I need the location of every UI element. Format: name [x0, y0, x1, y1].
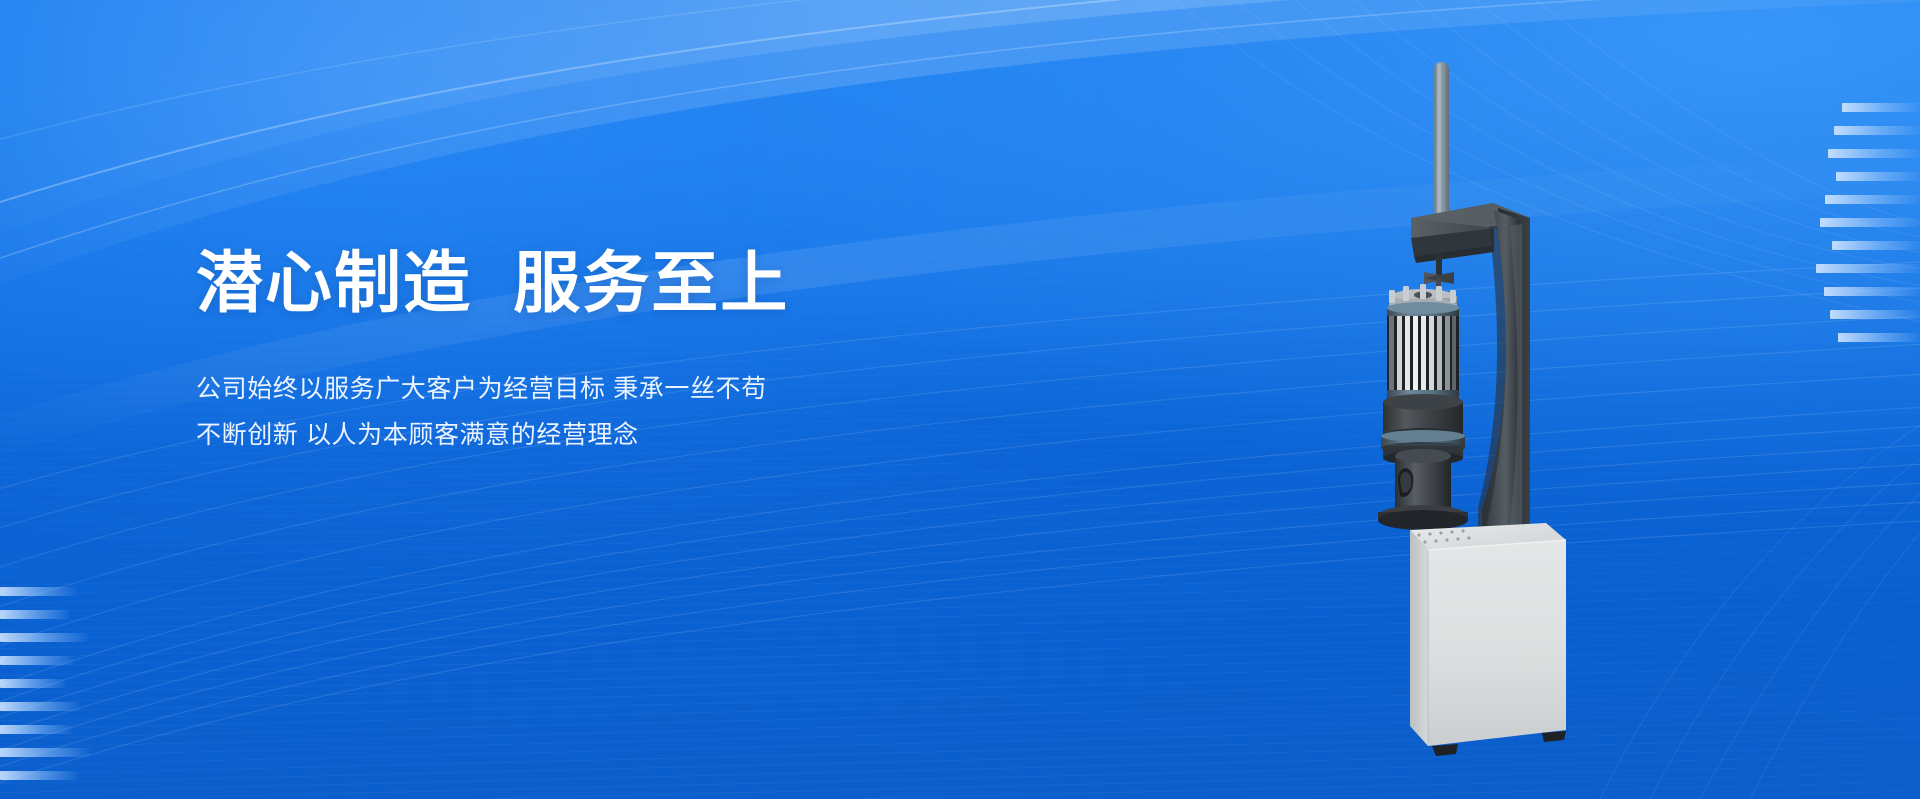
accent-bar — [0, 656, 74, 665]
accent-bar — [1842, 103, 1920, 112]
accent-bar — [0, 771, 78, 780]
neck-housing-part — [1395, 449, 1451, 514]
base-plate-part — [1378, 505, 1468, 530]
page-title: 潜心制造 服务至上 — [196, 246, 896, 321]
machine-svg — [1370, 40, 1630, 770]
accent-bar — [1828, 149, 1920, 158]
hero-subtitle-line-1: 公司始终以服务广大客户为经营目标 秉承一丝不苟 — [196, 367, 896, 413]
hero-copy-block: 潜心制造 服务至上 公司始终以服务广大客户为经营目标 秉承一丝不苟 不断创新 以… — [196, 246, 896, 458]
c-frame-column-part — [1476, 208, 1530, 538]
cooling-ribs — [1389, 316, 1456, 390]
accent-bar — [1832, 241, 1920, 250]
vertical-rod-part — [1434, 62, 1449, 217]
product-machine-illustration — [1370, 40, 1630, 770]
hero-subtitle-line-2: 不断创新 以人为本顾客满意的经营理念 — [196, 413, 896, 459]
accent-bar — [0, 633, 88, 642]
accent-bar — [0, 725, 72, 734]
accent-bar — [1834, 126, 1920, 135]
accent-bar — [0, 587, 76, 596]
accent-bar — [1838, 333, 1920, 342]
accent-bar — [1820, 218, 1920, 227]
accent-bar — [1824, 287, 1920, 296]
hero-subtitle: 公司始终以服务广大客户为经营目标 秉承一丝不苟 不断创新 以人为本顾客满意的经营… — [196, 321, 896, 458]
left-accent-bars — [0, 587, 120, 794]
accent-bar — [0, 748, 90, 757]
right-accent-bars — [1800, 103, 1920, 356]
accent-bar — [1816, 264, 1920, 273]
accent-bar — [1830, 310, 1920, 319]
accent-bar — [0, 679, 66, 688]
hero-banner: 潜心制造 服务至上 公司始终以服务广大客户为经营目标 秉承一丝不苟 不断创新 以… — [0, 0, 1920, 799]
cabinet-pedestal-part — [1410, 523, 1566, 746]
ribbed-cylinder-head-part — [1387, 284, 1459, 409]
accent-bar — [0, 702, 80, 711]
accent-bar — [0, 610, 70, 619]
accent-bar — [1836, 172, 1920, 181]
accent-bar — [1825, 195, 1920, 204]
